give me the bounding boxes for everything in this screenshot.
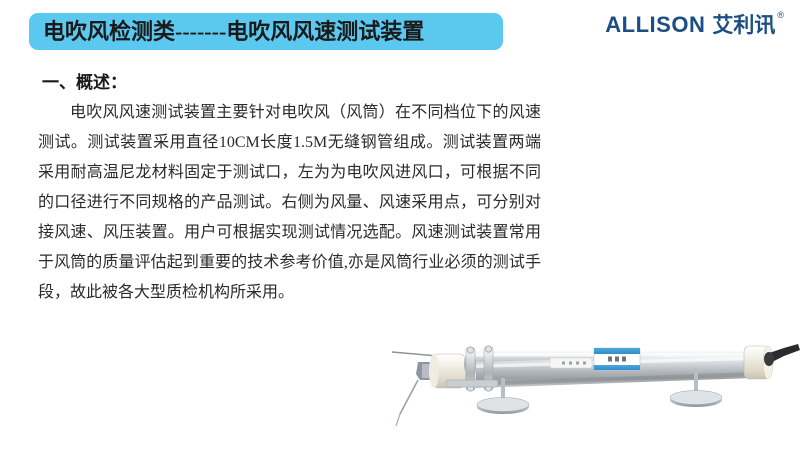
mounting-bracket [446, 380, 498, 387]
page-title: 电吹风检测类-------电吹风风速测试装置 [43, 21, 424, 43]
product-illustration [380, 318, 800, 450]
section-heading: 一、概述： [42, 74, 127, 91]
logo-latin-text: ALLISON [605, 14, 705, 36]
sensor-block [550, 358, 592, 368]
title-banner: 电吹风检测类-------电吹风风速测试装置 [29, 13, 503, 50]
product-photo [380, 318, 800, 450]
page-header: 电吹风检测类-------电吹风风速测试装置 ALLISON 艾利讯 ® [0, 0, 800, 62]
company-logo: ALLISON 艾利讯 ® [605, 14, 782, 48]
registered-trademark-icon: ® [777, 11, 784, 20]
product-label [594, 348, 640, 370]
logo-cjk-text: 艾利讯 [712, 15, 775, 36]
overview-paragraph: 电吹风风速测试装置主要针对电吹风（风筒）在不同档位下的风速测试。测试装置采用直径… [38, 98, 541, 308]
